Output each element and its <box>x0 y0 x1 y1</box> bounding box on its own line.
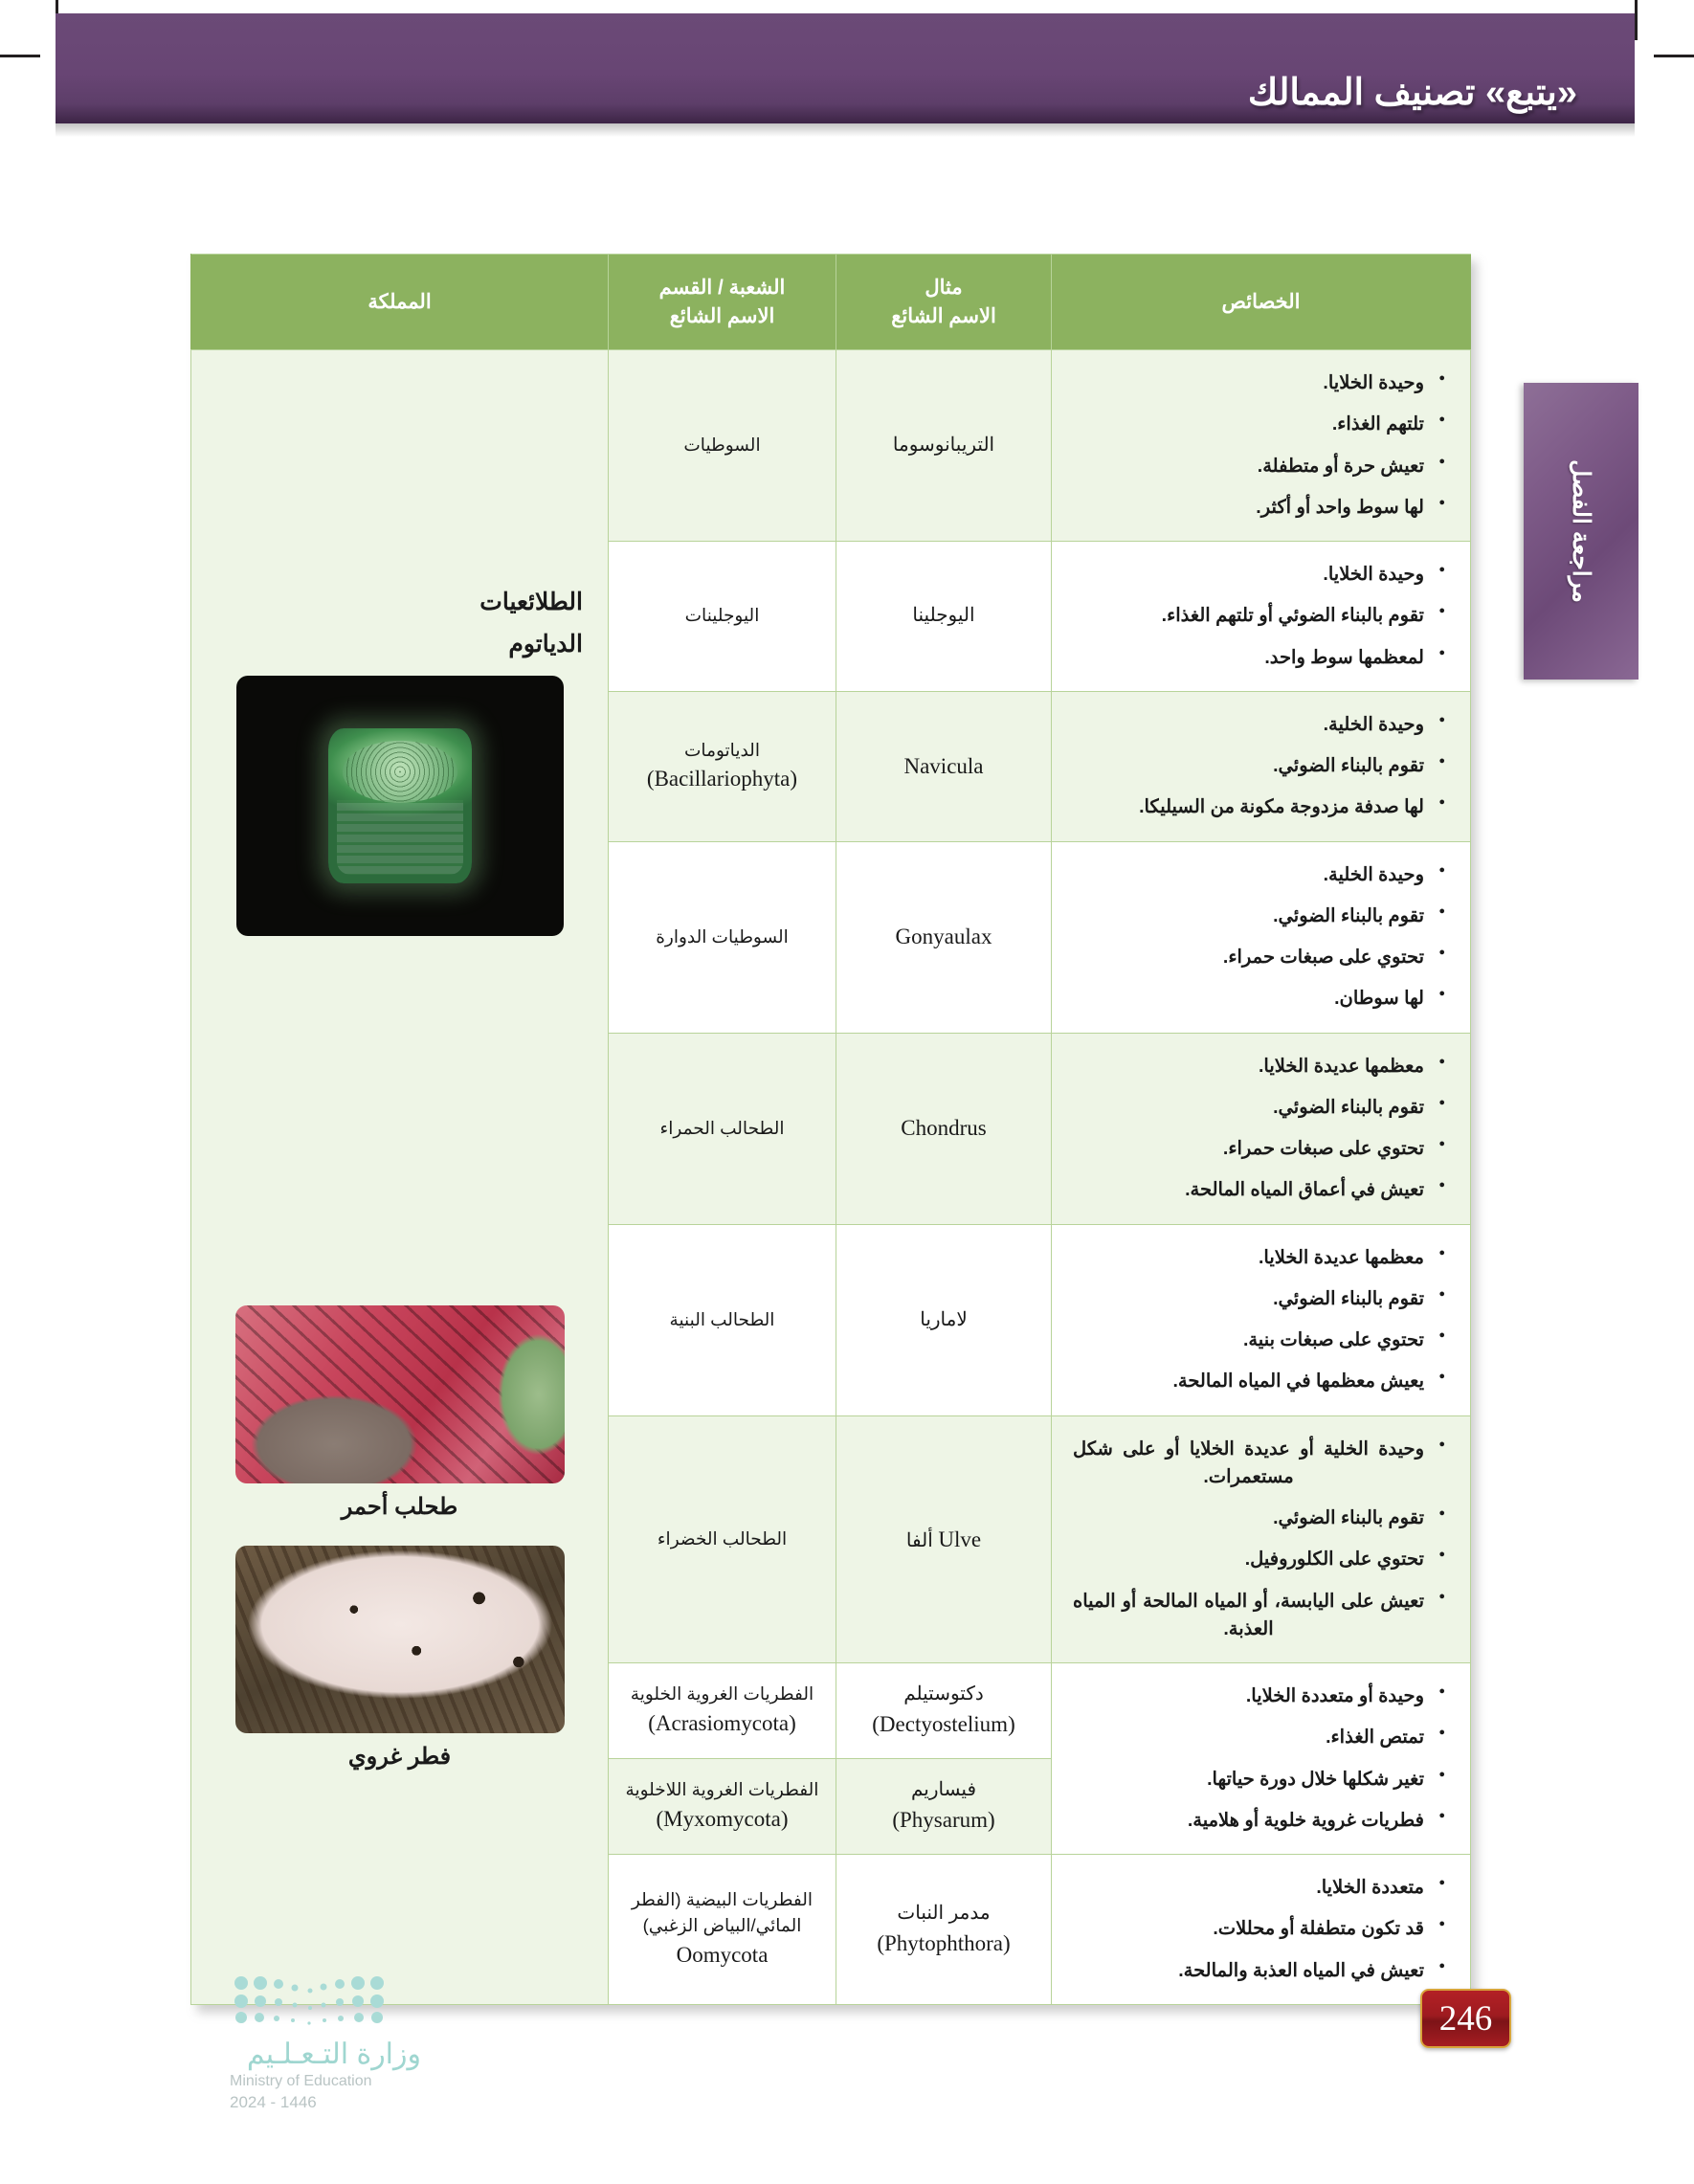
division-arabic: الفطريات الغروية الخلوية <box>616 1682 828 1707</box>
ministry-name-arabic: وزارة التـعـلـيم <box>230 2038 421 2071</box>
example-latin: Ulve <box>938 1527 981 1551</box>
diatom-cell-shape <box>328 728 472 883</box>
division-cell: الطحالب الحمراء <box>609 1033 836 1224</box>
division-cell: السوطيات الدوارة <box>609 841 836 1033</box>
trait-item: متعددة الخلايا. <box>1073 1874 1445 1902</box>
division-latin: Oomycota <box>616 1939 828 1971</box>
division-arabic: الدياتومات <box>616 738 828 764</box>
traits-cell: وحيدة أو متعددة الخلايا. تمتص الغذاء. تغ… <box>1052 1663 1471 1855</box>
example-cell: Chondrus <box>836 1033 1052 1224</box>
trait-item: تحتوي على صبغات بنية. <box>1073 1326 1445 1354</box>
table-row: وحيدة الخلايا. تلتهم الغذاء. تعيش حرة أو… <box>191 350 1471 542</box>
trait-item: تعيش حرة أو متطفلة. <box>1073 453 1445 480</box>
column-header-example-line1: مثال <box>836 274 1051 302</box>
trait-item: تحتوي على صبغات حمراء. <box>1073 1135 1445 1163</box>
trait-item: وحيدة الخلية. <box>1073 711 1445 739</box>
example-arabic: فيساريم <box>844 1776 1043 1804</box>
chapter-review-side-tab[interactable]: مراجعة الفصل <box>1524 383 1638 680</box>
trait-item: وحيدة الخلايا. <box>1073 561 1445 589</box>
kingdom-classification-table-wrapper: الخصائص مثال الاسم الشائع الشعبة / القسم… <box>191 254 1471 2005</box>
column-header-example-line2: الاسم الشائع <box>836 302 1051 331</box>
page-number-badge: 246 <box>1420 1989 1511 2048</box>
division-latin: (Bacillariophyta) <box>616 763 828 794</box>
division-latin: (Myxomycota) <box>616 1803 828 1835</box>
example-arabic: مدمر النبات <box>844 1900 1043 1928</box>
example-latin: (Phytophthora) <box>844 1928 1043 1959</box>
traits-cell: وحيدة الخلية. تقوم بالبناء الضوئي. لها ص… <box>1052 691 1471 841</box>
page-title: «يتبع» تصنيف الممالك <box>1248 71 1577 114</box>
example-cell: Gonyaulax <box>836 841 1052 1033</box>
division-cell: الطحالب الخضراء <box>609 1415 836 1663</box>
column-header-traits: الخصائص <box>1052 255 1471 350</box>
trait-item: تقوم بالبناء الضوئي. <box>1073 903 1445 930</box>
trait-item: لها صدفة مزدوجة مكونة من السيليكا. <box>1073 793 1445 821</box>
trait-item: تقوم بالبناء الضوئي. <box>1073 752 1445 780</box>
example-cell: دكتوستيلم (Dectyostelium) <box>836 1663 1052 1759</box>
crop-mark-top-right-horizontal <box>1654 55 1694 57</box>
trait-item: وحيدة الخلية أو عديدة الخلايا أو على شكل… <box>1073 1436 1445 1492</box>
red-algae-photo <box>235 1305 565 1483</box>
traits-list: وحيدة الخلية. تقوم بالبناء الضوئي. تحتوي… <box>1073 861 1445 1014</box>
division-cell: الفطريات الغروية الخلوية (Acrasiomycota) <box>609 1663 836 1759</box>
traits-cell: معظمها عديدة الخلايا. تقوم بالبناء الضوئ… <box>1052 1033 1471 1224</box>
traits-list: وحيدة الخلية. تقوم بالبناء الضوئي. لها ص… <box>1073 711 1445 822</box>
division-cell: الدياتومات (Bacillariophyta) <box>609 691 836 841</box>
example-arabic: ألفا <box>906 1530 933 1551</box>
diatom-micrograph <box>236 676 564 936</box>
trait-item: تلتهم الغذاء. <box>1073 411 1445 438</box>
trait-item: تقوم بالبناء الضوئي أو تلتهم الغذاء. <box>1073 602 1445 630</box>
red-algae-caption: طحلب أحمر <box>216 1493 583 1527</box>
trait-item: لها سوطان. <box>1073 985 1445 1013</box>
example-cell: لاماريا <box>836 1224 1052 1415</box>
division-cell: الفطريات البيضية (الفطر المائي/البياض ال… <box>609 1855 836 2005</box>
example-latin: (Dectyostelium) <box>844 1708 1043 1740</box>
trait-item: تحتوي على الكلوروفيل. <box>1073 1546 1445 1573</box>
example-cell: فيساريم (Physarum) <box>836 1759 1052 1855</box>
ministry-dots-icon <box>228 1972 390 2029</box>
traits-cell: وحيدة الخلية. تقوم بالبناء الضوئي. تحتوي… <box>1052 841 1471 1033</box>
trait-item: لها سوط واحد أو أكثر. <box>1073 494 1445 522</box>
example-latin: Gonyaulax <box>896 925 992 948</box>
kingdom-classification-table: الخصائص مثال الاسم الشائع الشعبة / القسم… <box>190 254 1471 2005</box>
traits-list: وحيدة أو متعددة الخلايا. تمتص الغذاء. تغ… <box>1073 1683 1445 1835</box>
traits-cell: متعددة الخلايا. قد تكون متطفلة أو محللات… <box>1052 1855 1471 2005</box>
example-latin: Chondrus <box>901 1116 986 1140</box>
trait-item: وحيدة الخلايا. <box>1073 369 1445 397</box>
ministry-year: 2024 - 1446 <box>230 2093 421 2112</box>
trait-item: قد تكون متطفلة أو محللات. <box>1073 1915 1445 1943</box>
traits-list: وحيدة الخلايا. تلتهم الغذاء. تعيش حرة أو… <box>1073 369 1445 522</box>
ministry-name-english: Ministry of Education <box>230 2073 421 2090</box>
traits-cell: وحيدة الخلية أو عديدة الخلايا أو على شكل… <box>1052 1415 1471 1663</box>
division-arabic: الفطريات الغروية اللاخلوية <box>616 1777 828 1803</box>
traits-list: وحيدة الخلايا. تقوم بالبناء الضوئي أو تل… <box>1073 561 1445 672</box>
trait-item: فطريات غروية خلوية أو هلامية. <box>1073 1807 1445 1835</box>
example-latin: (Physarum) <box>844 1804 1043 1836</box>
trait-item: تقوم بالبناء الضوئي. <box>1073 1094 1445 1122</box>
example-latin: Navicula <box>903 754 983 778</box>
traits-list: وحيدة الخلية أو عديدة الخلايا أو على شكل… <box>1073 1436 1445 1644</box>
ministry-of-education-logo: وزارة التـعـلـيم Ministry of Education 2… <box>115 1972 421 2112</box>
column-header-example: مثال الاسم الشائع <box>836 255 1052 350</box>
division-latin: (Acrasiomycota) <box>616 1707 828 1739</box>
trait-item: تمتص الغذاء. <box>1073 1724 1445 1751</box>
trait-item: يعيش معظمها في المياه المالحة. <box>1073 1368 1445 1395</box>
example-cell: التريبانوسوما <box>836 350 1052 542</box>
slime-mold-photo <box>235 1546 565 1733</box>
kingdom-name-line1: الطلائعيات <box>216 585 583 621</box>
trait-item: تغير شكلها خلال دورة حياتها. <box>1073 1766 1445 1794</box>
example-cell: Navicula <box>836 691 1052 841</box>
column-header-division-line1: الشعبة / القسم <box>609 274 836 302</box>
traits-cell: وحيدة الخلايا. تقوم بالبناء الضوئي أو تل… <box>1052 542 1471 692</box>
division-cell: السوطيات <box>609 350 836 542</box>
traits-list: متعددة الخلايا. قد تكون متطفلة أو محللات… <box>1073 1874 1445 1985</box>
table-header-row: الخصائص مثال الاسم الشائع الشعبة / القسم… <box>191 255 1471 350</box>
trait-item: تعيش في المياه العذبة والمالحة. <box>1073 1957 1445 1985</box>
kingdom-cell: الطلائعيات الدياتوم طحلب أحمر فطر غروي <box>191 350 609 2005</box>
crop-mark-top-left-horizontal <box>0 55 40 57</box>
trait-item: تحتوي على صبغات حمراء. <box>1073 944 1445 971</box>
example-arabic: دكتوستيلم <box>844 1681 1043 1708</box>
traits-list: معظمها عديدة الخلايا. تقوم بالبناء الضوئ… <box>1073 1244 1445 1396</box>
trait-item: وحيدة الخلية. <box>1073 861 1445 889</box>
trait-item: معظمها عديدة الخلايا. <box>1073 1053 1445 1081</box>
column-header-division: الشعبة / القسم الاسم الشائع <box>609 255 836 350</box>
example-cell: مدمر النبات (Phytophthora) <box>836 1855 1052 2005</box>
trait-item: لمعظمها سوط واحد. <box>1073 644 1445 672</box>
page-header-banner: «يتبع» تصنيف الممالك <box>56 13 1635 123</box>
trait-item: تقوم بالبناء الضوئي. <box>1073 1285 1445 1313</box>
traits-list: معظمها عديدة الخلايا. تقوم بالبناء الضوئ… <box>1073 1053 1445 1205</box>
traits-cell: معظمها عديدة الخلايا. تقوم بالبناء الضوئ… <box>1052 1224 1471 1415</box>
crop-mark-top-right-vertical <box>1635 0 1638 40</box>
trait-item: تعيش في أعماق المياه المالحة. <box>1073 1176 1445 1204</box>
division-cell: الفطريات الغروية اللاخلوية (Myxomycota) <box>609 1759 836 1855</box>
example-cell: Ulve ألفا <box>836 1415 1052 1663</box>
trait-item: معظمها عديدة الخلايا. <box>1073 1244 1445 1272</box>
side-tab-label: مراجعة الفصل <box>1567 459 1595 603</box>
column-header-division-line2: الاسم الشائع <box>609 302 836 331</box>
example-cell: اليوجلينا <box>836 542 1052 692</box>
traits-cell: وحيدة الخلايا. تلتهم الغذاء. تعيش حرة أو… <box>1052 350 1471 542</box>
trait-item: تقوم بالبناء الضوئي. <box>1073 1504 1445 1532</box>
slime-mold-caption: فطر غروي <box>216 1743 583 1776</box>
division-cell: اليوجلينات <box>609 542 836 692</box>
kingdom-name-line2: الدياتوم <box>216 627 583 663</box>
trait-item: تعيش على اليابسة، أو المياه المالحة أو ا… <box>1073 1588 1445 1644</box>
division-arabic: الفطريات البيضية (الفطر المائي/البياض ال… <box>616 1887 828 1939</box>
division-cell: الطحالب البنية <box>609 1224 836 1415</box>
trait-item: وحيدة أو متعددة الخلايا. <box>1073 1683 1445 1710</box>
column-header-kingdom: المملكة <box>191 255 609 350</box>
